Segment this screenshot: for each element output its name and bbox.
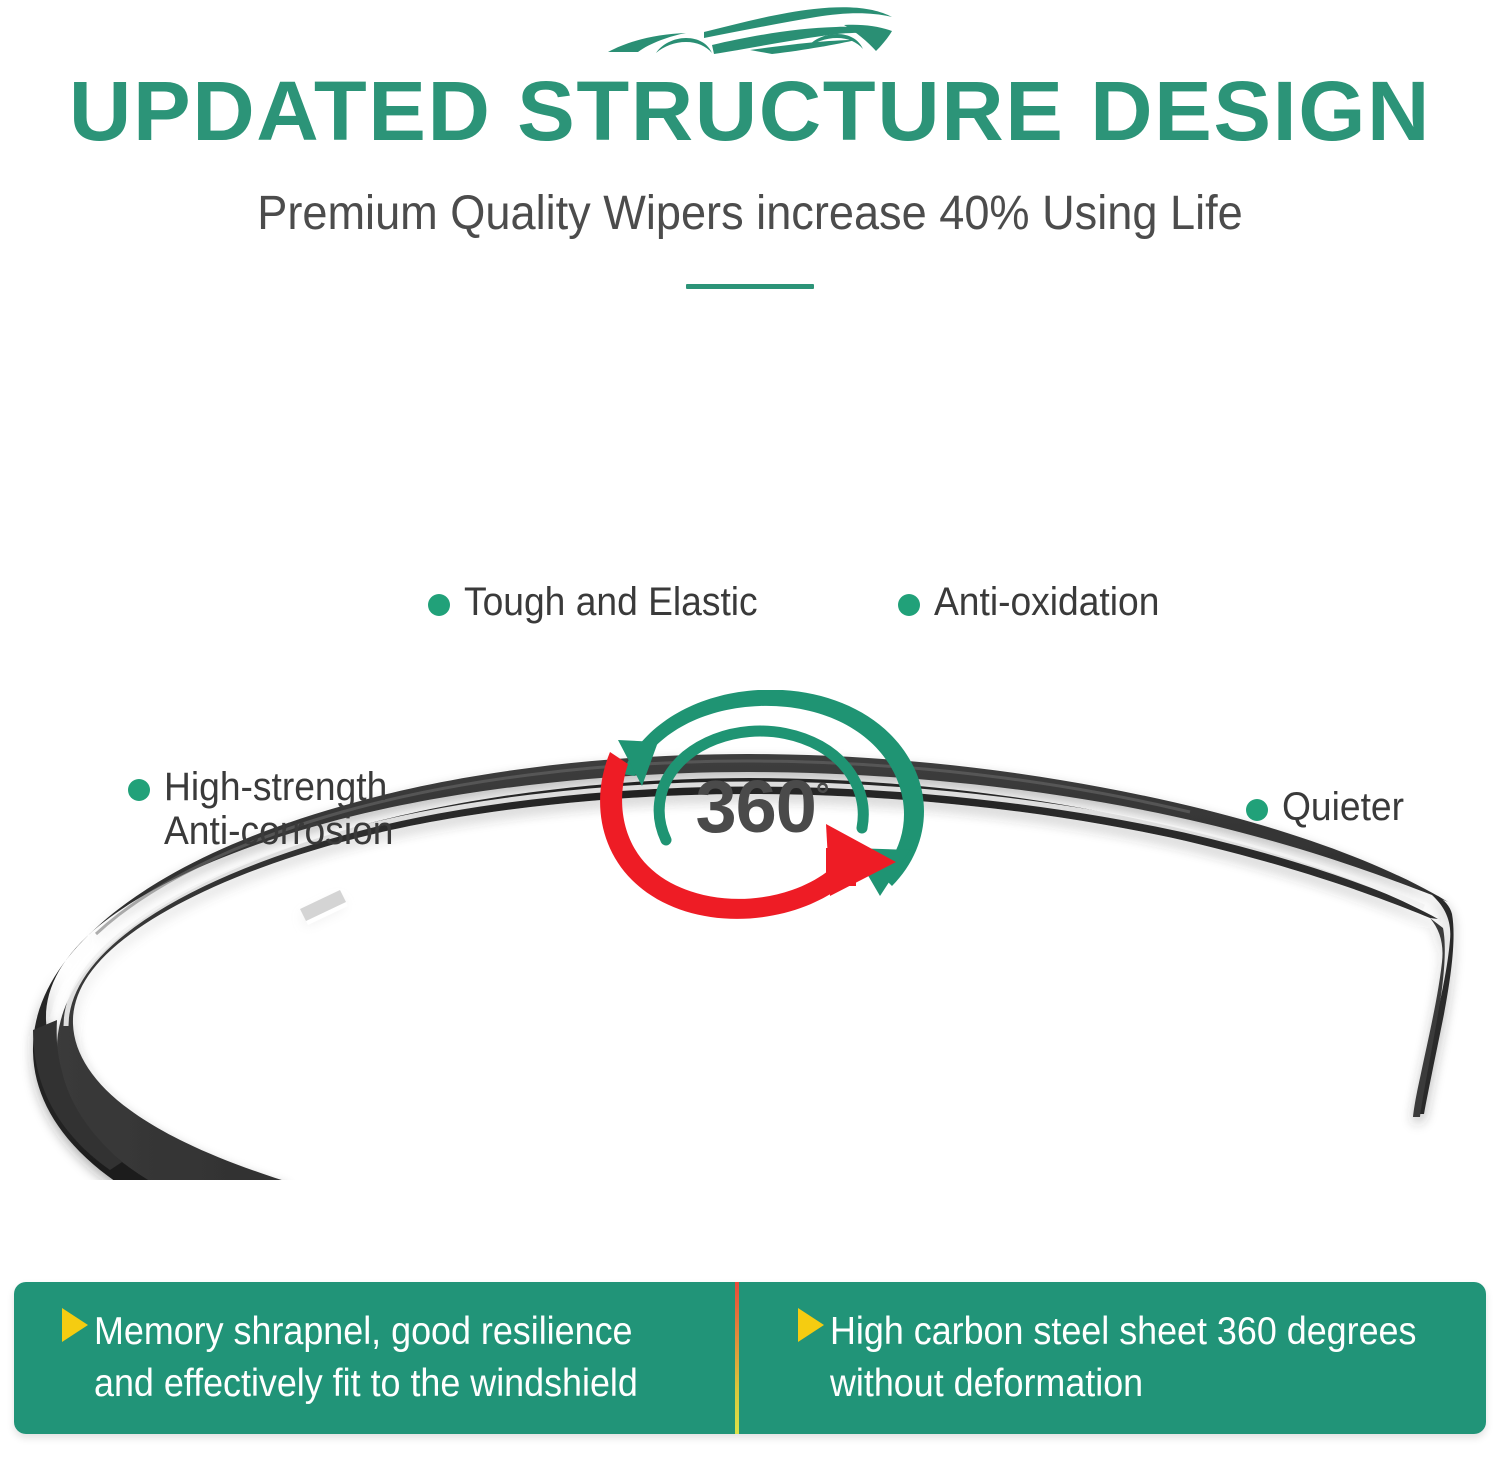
rotation-360-badge: 360°	[580, 690, 960, 930]
banner-memory-shrapnel: Memory shrapnel, good resilience and eff…	[14, 1282, 750, 1434]
banner-text: High carbon steel sheet 360 degrees with…	[830, 1306, 1416, 1410]
feature-label: Quieter	[1282, 785, 1404, 829]
feature-label: High-strength Anti-corrosion	[164, 765, 393, 853]
banner-high-carbon-steel: High carbon steel sheet 360 degrees with…	[750, 1282, 1486, 1434]
banner-text-line-2: and effectively fit to the windshield	[94, 1358, 638, 1410]
feature-label: Anti-oxidation	[934, 580, 1159, 624]
bottom-banner-bar: Memory shrapnel, good resilience and eff…	[14, 1282, 1486, 1434]
feature-quieter: Quieter	[1246, 785, 1413, 829]
triangle-right-icon	[798, 1308, 824, 1342]
feature-tough-and-elastic: Tough and Elastic	[428, 580, 780, 624]
car-silhouette-icon	[0, 4, 1500, 66]
page-subtitle: Premium Quality Wipers increase 40% Usin…	[45, 186, 1455, 242]
banner-text-line-1: Memory shrapnel, good resilience	[94, 1306, 638, 1358]
bullet-dot-icon	[128, 779, 150, 801]
feature-anti-oxidation: Anti-oxidation	[898, 580, 1176, 624]
bullet-dot-icon	[428, 594, 450, 616]
triangle-right-icon	[62, 1308, 88, 1342]
feature-high-strength-anti-corrosion: High-strength Anti-corrosion	[128, 765, 411, 853]
bullet-dot-icon	[898, 594, 920, 616]
banner-divider	[735, 1282, 739, 1434]
bullet-dot-icon	[1246, 799, 1268, 821]
page-title: UPDATED STRUCTURE DESIGN	[0, 68, 1500, 154]
feature-label-line-1: High-strength	[164, 765, 393, 809]
page-root: UPDATED STRUCTURE DESIGN Premium Quality…	[0, 0, 1500, 1475]
feature-label-line-2: Anti-corrosion	[164, 809, 393, 853]
banner-text: Memory shrapnel, good resilience and eff…	[94, 1306, 638, 1410]
banner-text-line-2: without deformation	[830, 1358, 1416, 1410]
feature-label: Tough and Elastic	[464, 580, 758, 624]
banner-text-line-1: High carbon steel sheet 360 degrees	[830, 1306, 1416, 1358]
title-divider	[686, 284, 814, 289]
